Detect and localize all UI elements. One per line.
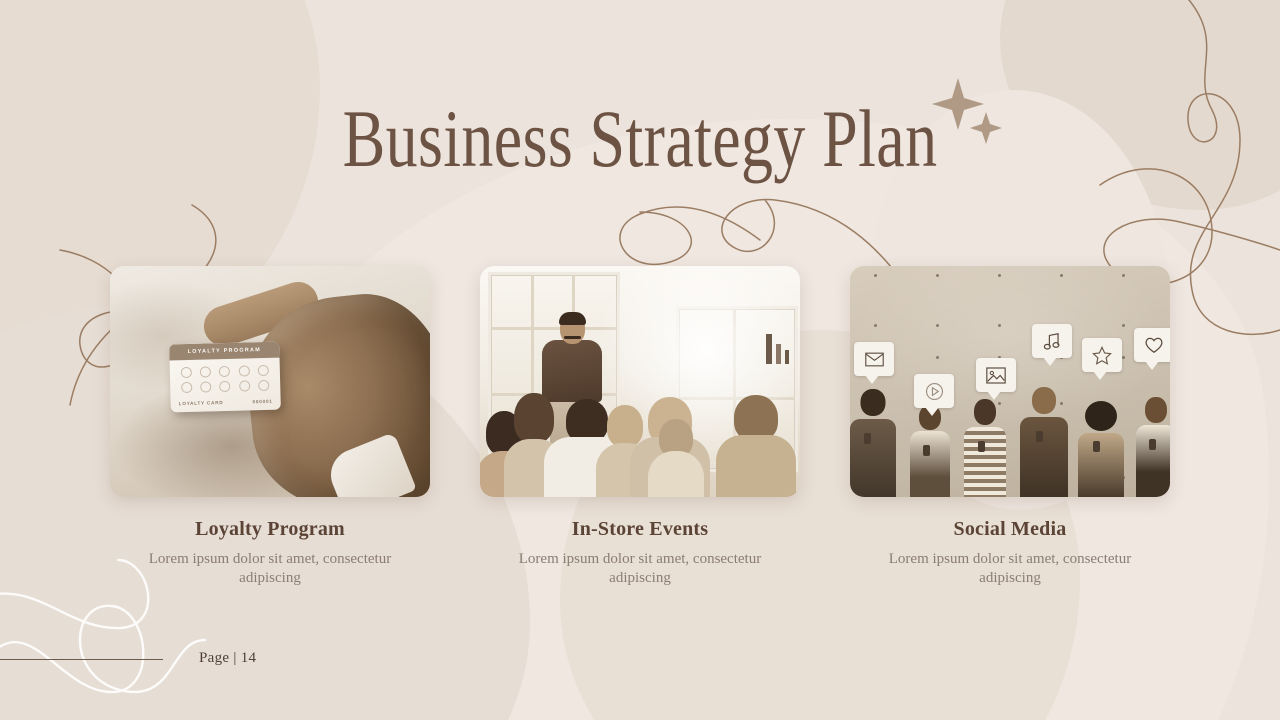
person-shape — [910, 405, 950, 497]
loyalty-card-graphic: LOYALTY PROGRAM — [169, 342, 281, 413]
card-description: Lorem ipsum dolor sit amet, consectetur … — [850, 550, 1170, 588]
page-title: Business Strategy Plan — [141, 98, 1139, 180]
envelope-icon — [865, 352, 884, 367]
page-number-label: Page | 14 — [199, 650, 256, 667]
audience-member — [648, 419, 704, 497]
card-description: Lorem ipsum dolor sit amet, consectetur … — [110, 550, 430, 588]
star-icon — [1092, 346, 1112, 365]
card-title: Loyalty Program — [110, 518, 430, 541]
card-social-media[interactable]: Social Media Lorem ipsum dolor sit amet,… — [850, 266, 1170, 588]
loyalty-card-footer: LOYALTY CARD 000001 — [179, 399, 273, 406]
in-store-events-photo — [480, 266, 800, 497]
stamp-slot — [181, 367, 192, 378]
heart-icon — [1144, 336, 1164, 354]
music-note-icon — [1043, 332, 1061, 351]
stamp-slot — [220, 381, 231, 392]
footer-divider — [0, 659, 163, 660]
person-shape — [1078, 401, 1124, 497]
social-media-photo — [850, 266, 1170, 497]
card-title: In-Store Events — [480, 518, 800, 541]
bubble-play — [914, 374, 954, 408]
card-in-store-events[interactable]: In-Store Events Lorem ipsum dolor sit am… — [480, 266, 800, 588]
audience-group — [480, 377, 800, 497]
slide-footer: Page | 14 — [0, 650, 1280, 674]
stamp-slot — [181, 382, 192, 393]
person-shape — [964, 399, 1006, 497]
bubble-star — [1082, 338, 1122, 372]
presenter-shape — [559, 312, 586, 325]
person-shape — [850, 389, 896, 497]
loyalty-card-number: 000001 — [252, 399, 272, 405]
card-loyalty-program[interactable]: LOYALTY PROGRAM — [110, 266, 430, 588]
loyalty-card-name: LOYALTY CARD — [179, 400, 224, 406]
bubble-music — [1032, 324, 1072, 358]
card-title: Social Media — [850, 518, 1170, 541]
card-description: Lorem ipsum dolor sit amet, consectetur … — [480, 550, 800, 588]
image-icon — [986, 367, 1006, 384]
bubble-heart — [1134, 328, 1170, 362]
stamp-slot — [219, 366, 230, 377]
stamp-slot — [200, 366, 211, 377]
play-circle-icon — [925, 382, 944, 401]
stamp-slot — [258, 380, 269, 391]
bubble-image — [976, 358, 1016, 392]
person-shape — [1020, 387, 1068, 497]
loyalty-card-band-label: LOYALTY PROGRAM — [188, 347, 261, 355]
stamp-slot — [258, 365, 269, 376]
person-shape — [1136, 397, 1170, 497]
audience-member — [716, 395, 796, 497]
presentation-slide: Business Strategy Plan LOYALTY PROGRAM — [0, 0, 1280, 720]
stamp-slot — [200, 381, 211, 392]
card-row: LOYALTY PROGRAM — [0, 266, 1280, 588]
stamp-slot — [238, 365, 249, 376]
loyalty-card-stamps — [170, 358, 281, 394]
stamp-slot — [239, 380, 250, 391]
bubble-envelope — [854, 342, 894, 376]
loyalty-program-photo: LOYALTY PROGRAM — [110, 266, 430, 497]
